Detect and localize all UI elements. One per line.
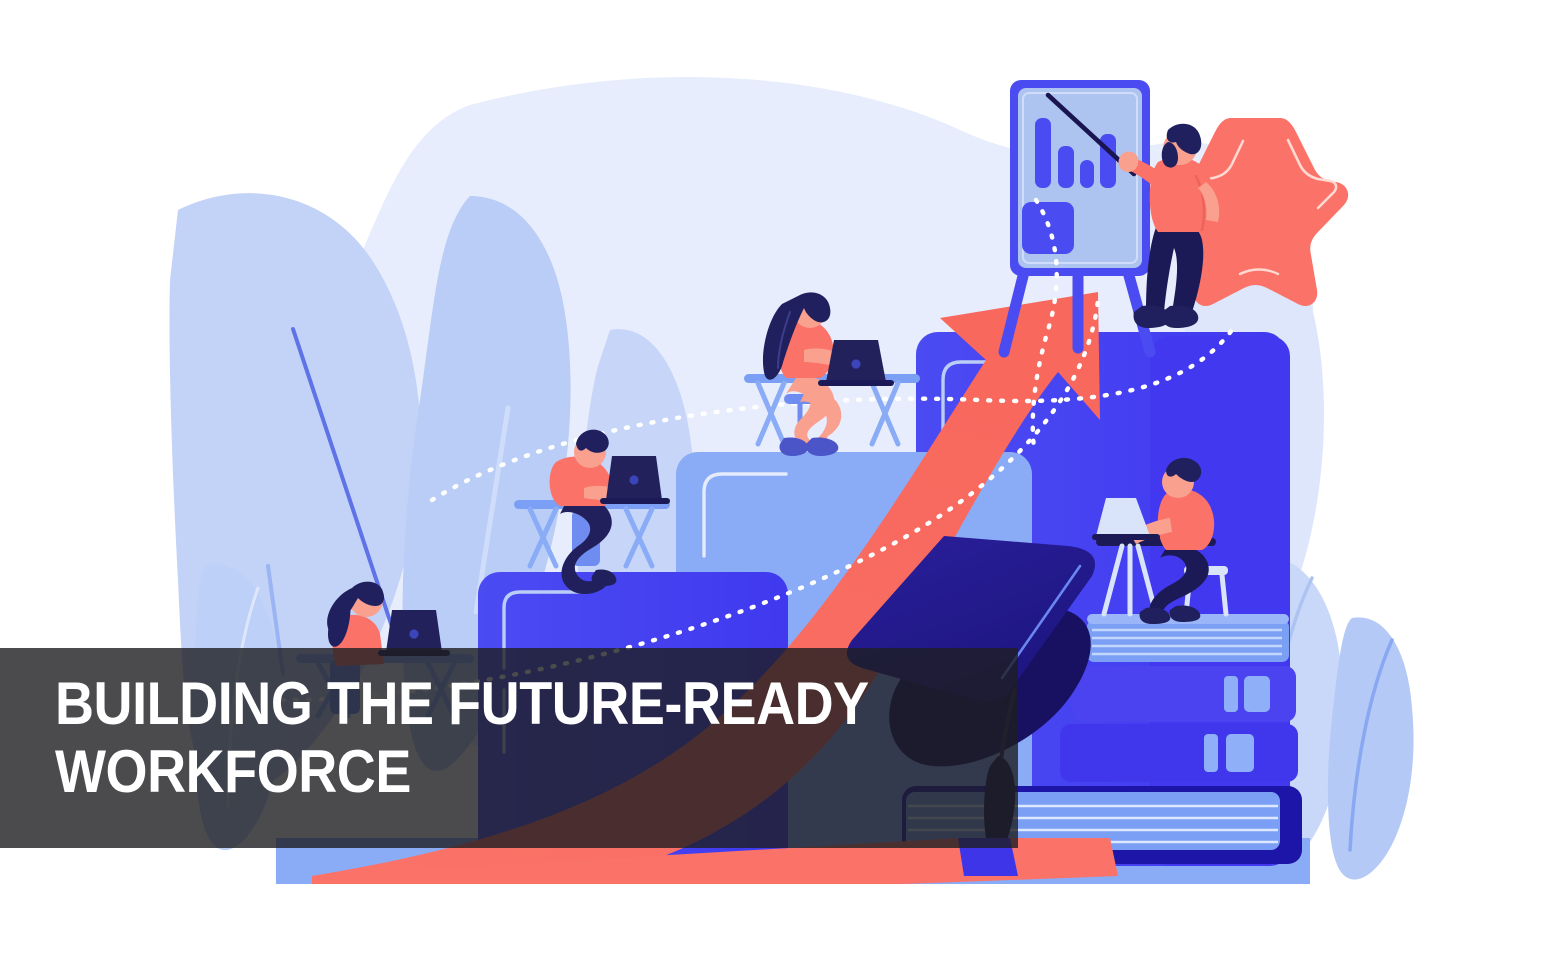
book-lower — [1060, 724, 1298, 782]
book-mid — [1072, 666, 1296, 722]
whiteboard-block-note — [1022, 202, 1074, 254]
title-overlay-band: BUILDING THE FUTURE-READY WORKFORCE — [0, 648, 1018, 848]
page-title: BUILDING THE FUTURE-READY WORKFORCE — [55, 670, 892, 806]
illustration-banner: BUILDING THE FUTURE-READY WORKFORCE — [0, 0, 1543, 972]
background-leaf-blob-right-lower — [1328, 617, 1414, 879]
